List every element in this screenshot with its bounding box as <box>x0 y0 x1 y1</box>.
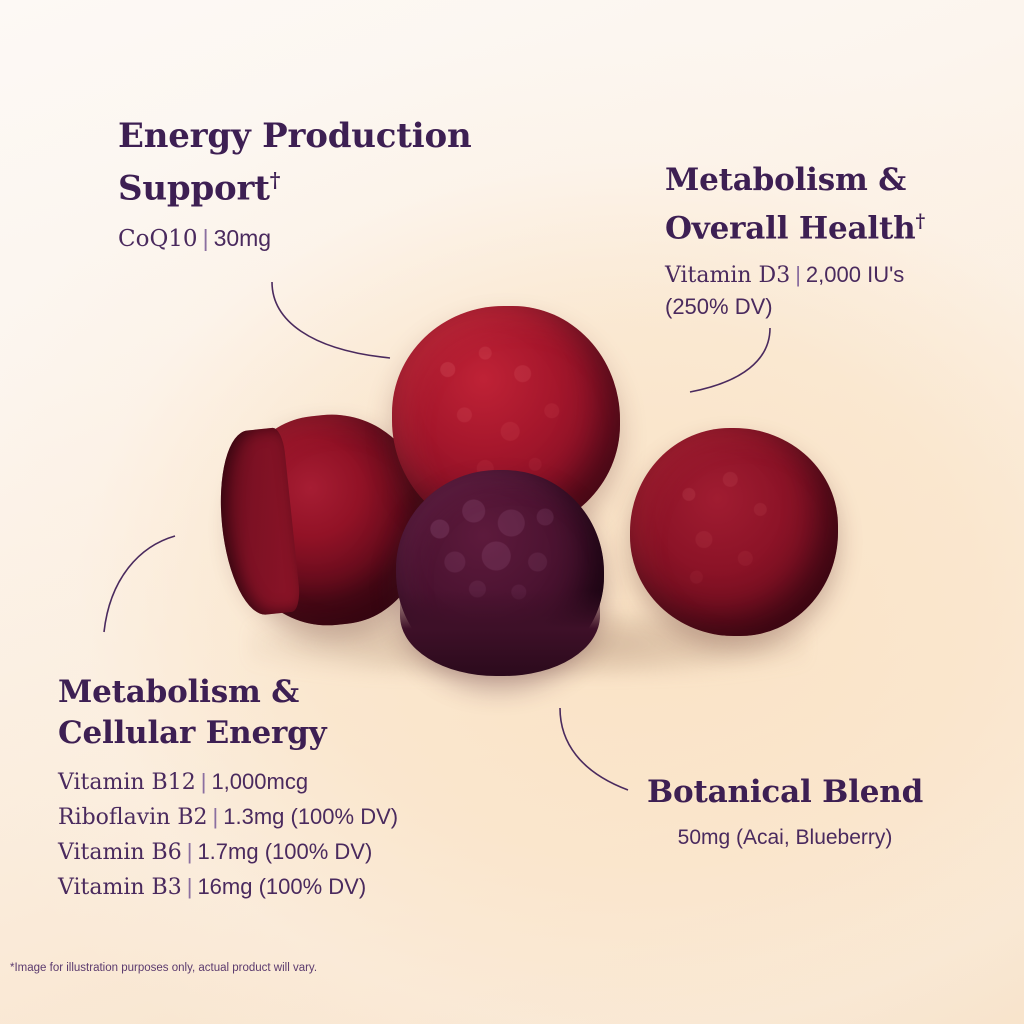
callout-line: 50mg (Acai, Blueberry) <box>647 822 923 853</box>
callout-line: CoQ10|30mg <box>118 221 472 256</box>
callout-energy-production-support: Energy Production Support† CoQ10|30mg <box>118 114 472 256</box>
nutrient-list: Vitamin B12|1,000mcg Riboflavin B2|1.3mg… <box>58 765 398 905</box>
separator: | <box>208 804 224 829</box>
callout-line: Riboflavin B2|1.3mg (100% DV) <box>58 800 398 835</box>
callout-heading: Energy Production Support† <box>118 114 472 210</box>
nutrient-name: Vitamin D3 <box>665 263 790 288</box>
callout-metabolism-overall-health: Metabolism & Overall Health† Vitamin D3|… <box>665 160 925 322</box>
callout-heading-line2: Support <box>118 168 270 208</box>
callout-heading-line1: Metabolism & <box>665 162 906 198</box>
nutrient-name: Vitamin B12 <box>58 770 196 795</box>
callout-metabolism-cellular-energy: Metabolism & Cellular Energy Vitamin B12… <box>58 672 398 905</box>
nutrient-value: 1.3mg (100% DV) <box>223 804 398 829</box>
footnote-text: *Image for illustration purposes only, a… <box>10 962 317 974</box>
nutrient-value: 2,000 IU's <box>806 262 904 287</box>
nutrient-name: Vitamin B3 <box>58 875 182 900</box>
nutrient-value-dv: (250% DV) <box>665 294 773 319</box>
dagger-symbol: † <box>915 211 925 232</box>
nutrient-name: Vitamin B6 <box>58 840 182 865</box>
callout-heading: Metabolism & Overall Health† <box>665 160 925 249</box>
callout-heading-line2: Cellular Energy <box>58 715 326 751</box>
separator: | <box>790 262 806 287</box>
separator: | <box>182 874 198 899</box>
nutrient-name: Riboflavin B2 <box>58 805 208 830</box>
connector-botanical <box>560 708 628 790</box>
nutrient-value: 30mg <box>214 225 272 251</box>
callout-line: Vitamin D3|2,000 IU's <box>665 259 925 291</box>
separator: | <box>198 225 214 251</box>
callout-line: Vitamin B6|1.7mg (100% DV) <box>58 835 398 870</box>
nutrient-value: 50mg (Acai, Blueberry) <box>678 826 893 849</box>
separator: | <box>196 769 212 794</box>
callout-heading: Botanical Blend <box>647 772 923 813</box>
product-photo <box>200 290 860 690</box>
product-infographic: Energy Production Support† CoQ10|30mg Me… <box>0 0 1024 1024</box>
callout-botanical-blend: Botanical Blend 50mg (Acai, Blueberry) <box>647 772 923 853</box>
callout-heading-line1: Energy Production <box>118 116 472 156</box>
nutrient-value: 1.7mg (100% DV) <box>197 839 372 864</box>
nutrient-name: CoQ10 <box>118 226 198 252</box>
callout-line: Vitamin B3|16mg (100% DV) <box>58 870 398 905</box>
callout-line: Vitamin B12|1,000mcg <box>58 765 398 800</box>
callout-heading-line1: Botanical Blend <box>647 774 923 810</box>
separator: | <box>182 839 198 864</box>
nutrient-value: 16mg (100% DV) <box>197 874 366 899</box>
callout-heading-line2: Overall Health <box>665 210 915 246</box>
nutrient-value: 1,000mcg <box>211 769 308 794</box>
gummy-right-texture <box>640 438 828 626</box>
callout-line-secondary: (250% DV) <box>665 291 925 322</box>
connector-cellular <box>104 536 175 632</box>
dagger-symbol: † <box>270 168 280 192</box>
callout-heading: Metabolism & Cellular Energy <box>58 672 398 754</box>
callout-heading-line1: Metabolism & <box>58 674 299 710</box>
